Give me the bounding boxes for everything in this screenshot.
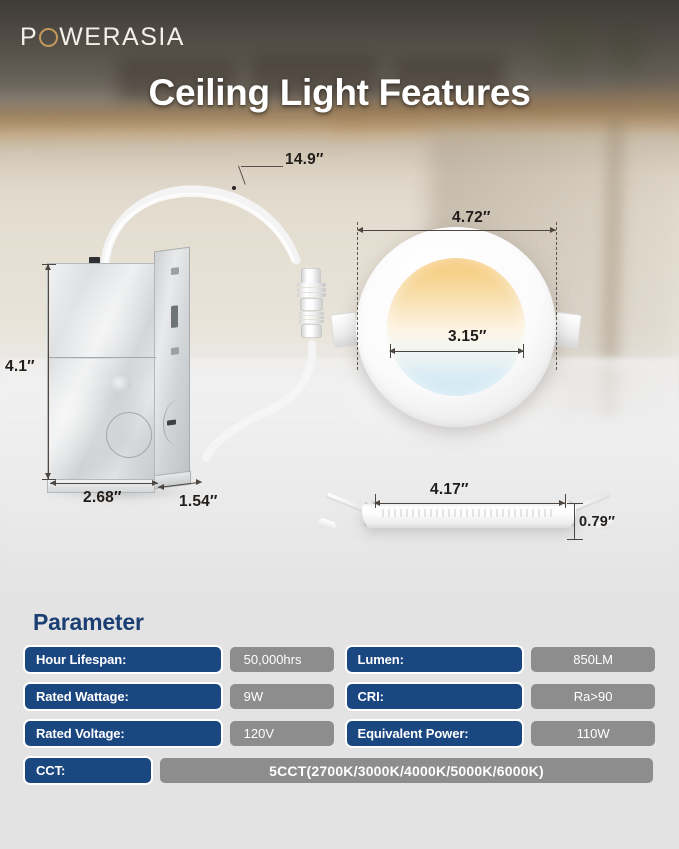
arrow-left-icon — [50, 480, 56, 486]
brand-logo-text-end: WERASIA — [59, 25, 185, 50]
junction-box-knockout — [106, 412, 152, 458]
param-value-lumen: 850LM — [529, 645, 657, 674]
parameter-panel: Parameter Hour Lifespan: 50,000hrs Lumen… — [0, 600, 679, 849]
arrow-right-icon — [196, 479, 202, 485]
arrow-left-icon — [158, 484, 164, 490]
brand-logo-text-start: P — [20, 25, 38, 50]
dimension-profile-width: 4.17″ — [430, 481, 469, 499]
product-infographic: P WERASIA Ceiling Light Features — [0, 0, 679, 849]
downlight-cct-lens — [387, 258, 525, 396]
dimension-profile-thickness: 0.79″ — [579, 514, 615, 530]
param-key-cct: CCT: — [23, 756, 153, 785]
dimension-tick — [567, 503, 583, 504]
junction-box-emboss — [110, 376, 132, 392]
junction-box-front-face — [47, 263, 155, 481]
parameter-table: Hour Lifespan: 50,000hrs Lumen: 850LM Ra… — [23, 645, 657, 793]
recessed-downlight-front-view — [356, 227, 556, 427]
extension-line-right — [556, 222, 557, 370]
downlight-trim-ring — [356, 227, 556, 427]
dimension-line-lens-diameter — [391, 351, 523, 352]
param-key-equivalent-power: Equivalent Power: — [345, 719, 525, 748]
circle-o-logo-mark-icon — [39, 28, 58, 47]
quick-connector — [295, 268, 329, 344]
junction-box-lid-seam — [48, 357, 156, 359]
dimension-tick — [523, 344, 524, 358]
param-key-rated-wattage: Rated Wattage: — [23, 682, 223, 711]
table-row: Rated Voltage: 120V Equivalent Power: 11… — [23, 719, 657, 748]
param-key-hour-lifespan: Hour Lifespan: — [23, 645, 223, 674]
dimension-tick — [565, 494, 566, 508]
dimension-tick — [42, 264, 56, 265]
dimension-line-profile-thickness — [574, 503, 575, 539]
page-title: Ceiling Light Features — [0, 72, 679, 114]
param-value-rated-wattage: 9W — [228, 682, 336, 711]
dimension-line-box-height — [48, 264, 49, 479]
dimension-tick — [567, 539, 583, 540]
dimension-box-depth: 1.54″ — [179, 493, 218, 511]
dimension-line-outer-diameter — [358, 230, 556, 231]
dimension-tick — [375, 494, 376, 508]
param-value-equivalent-power: 110W — [529, 719, 657, 748]
param-value-cct: 5CCT(2700K/3000K/4000K/5000K/6000K) — [158, 756, 655, 785]
junction-box-side-face — [154, 247, 190, 478]
param-key-rated-voltage: Rated Voltage: — [23, 719, 223, 748]
parameter-section-title: Parameter — [33, 609, 144, 636]
junction-box — [47, 255, 207, 490]
dimension-box-height: 4.1″ — [5, 358, 35, 376]
table-row: Rated Wattage: 9W CRI: Ra>90 — [23, 682, 657, 711]
downlight-profile-vents — [382, 509, 552, 517]
param-value-hour-lifespan: 50,000hrs — [228, 645, 336, 674]
param-value-rated-voltage: 120V — [228, 719, 336, 748]
param-key-lumen: Lumen: — [345, 645, 525, 674]
leader-dot-cable — [232, 186, 236, 190]
param-key-cri: CRI: — [345, 682, 525, 711]
dimension-tick — [390, 344, 391, 358]
table-row: CCT: 5CCT(2700K/3000K/4000K/5000K/6000K) — [23, 756, 657, 785]
dimension-line-box-width — [50, 483, 158, 484]
extension-line-left — [357, 222, 358, 370]
dimension-box-width: 2.68″ — [83, 489, 122, 507]
table-row: Hour Lifespan: 50,000hrs Lumen: 850LM — [23, 645, 657, 674]
dimension-lens-diameter: 3.15″ — [448, 328, 487, 346]
leader-line-cable — [241, 166, 283, 167]
brand-logo: P WERASIA — [20, 20, 185, 54]
dimension-line-profile-width — [375, 503, 565, 504]
dimension-cable-length: 14.9″ — [285, 151, 324, 169]
param-value-cri: Ra>90 — [529, 682, 657, 711]
dimension-outer-diameter: 4.72″ — [452, 209, 491, 227]
junction-box-slot — [171, 305, 178, 328]
